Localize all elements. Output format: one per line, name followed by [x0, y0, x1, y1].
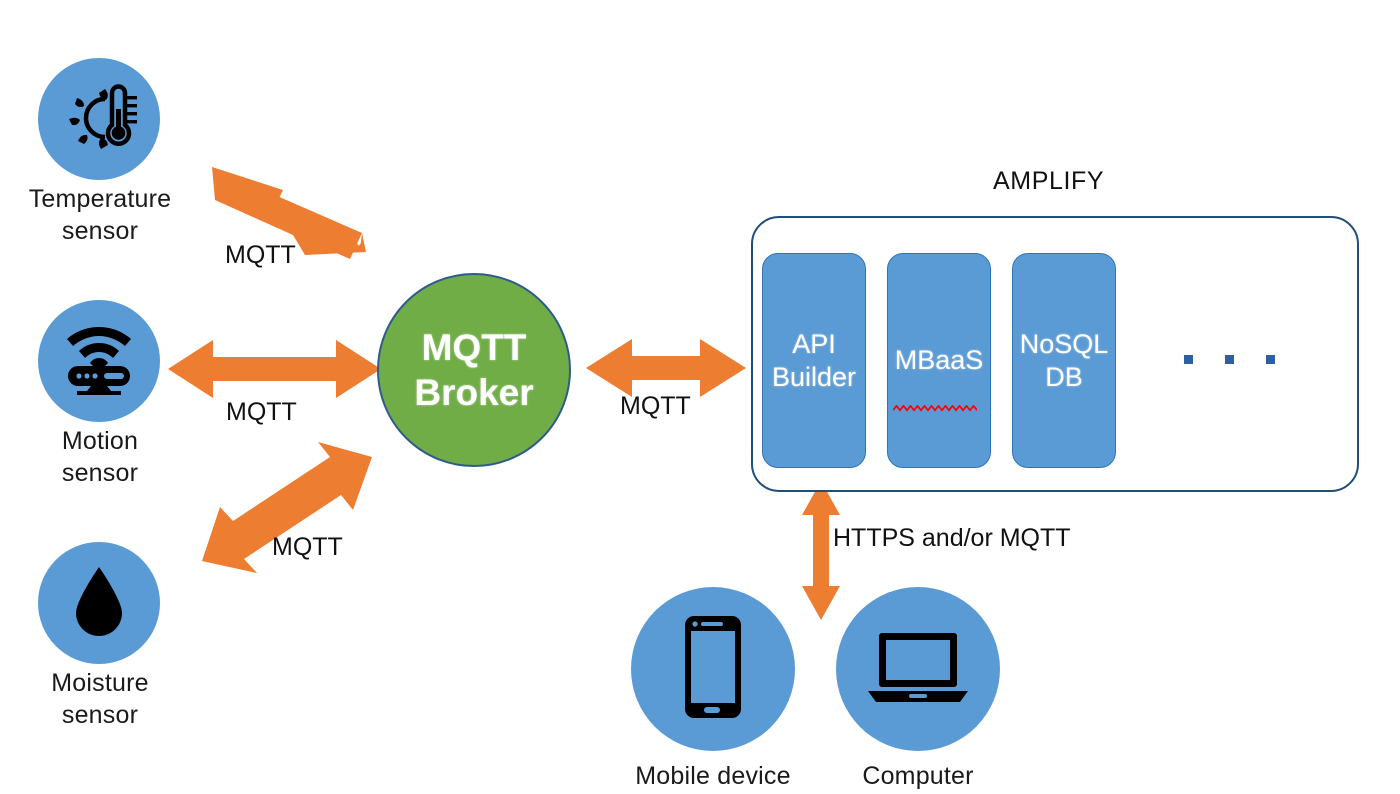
- more-services-ellipsis: [1184, 355, 1275, 364]
- mqtt-broker-node[interactable]: MQTT Broker: [377, 273, 571, 467]
- diagram-canvas: Temperature sensor: [0, 0, 1400, 794]
- edge-label-amplify-clients: HTTPS and/or MQTT: [833, 524, 1071, 553]
- node-label-computer: Computer: [808, 760, 1028, 792]
- node-label-moisture-sensor: Moisture sensor: [0, 667, 200, 731]
- node-label-mobile-device: Mobile device: [603, 760, 823, 792]
- ellipsis-dot-1: [1184, 355, 1193, 364]
- service-box-mbaas[interactable]: MBaaS: [887, 253, 991, 468]
- service-label-nosql-db: NoSQL DB: [1020, 328, 1109, 394]
- moisture-sensor-icon: [69, 564, 129, 643]
- arrow-broker-to-amplify: [586, 339, 746, 397]
- node-computer[interactable]: [836, 587, 1000, 751]
- service-box-api-builder[interactable]: API Builder: [762, 253, 866, 468]
- node-motion-sensor[interactable]: [38, 300, 160, 422]
- service-label-mbaas: MBaaS: [895, 311, 984, 410]
- mobile-phone-icon: [682, 613, 744, 726]
- amplify-title: AMPLIFY: [993, 167, 1104, 196]
- node-temperature-sensor[interactable]: [38, 58, 160, 180]
- node-moisture-sensor[interactable]: [38, 542, 160, 664]
- ellipsis-dot-2: [1225, 355, 1234, 364]
- laptop-computer-icon: [865, 629, 971, 710]
- spellcheck-underline-icon: [893, 405, 977, 412]
- temperature-sensor-icon: [61, 79, 137, 160]
- ellipsis-dot-3: [1266, 355, 1275, 364]
- mqtt-broker-label: MQTT Broker: [414, 325, 533, 415]
- node-mobile-device[interactable]: [631, 587, 795, 751]
- node-label-temperature-sensor: Temperature sensor: [0, 183, 200, 247]
- motion-sensor-icon: [60, 323, 138, 400]
- service-label-api-builder: API Builder: [772, 328, 856, 394]
- service-box-nosql-db[interactable]: NoSQL DB: [1012, 253, 1116, 468]
- edge-label-moisture-mqtt: MQTT: [272, 533, 343, 562]
- arrow-motion-to-broker: [168, 340, 381, 398]
- edge-label-motion-mqtt: MQTT: [226, 398, 297, 427]
- node-label-motion-sensor: Motion sensor: [0, 425, 200, 489]
- edge-label-temperature-mqtt: MQTT: [225, 241, 296, 270]
- edge-label-broker-amplify-mqtt: MQTT: [620, 392, 691, 421]
